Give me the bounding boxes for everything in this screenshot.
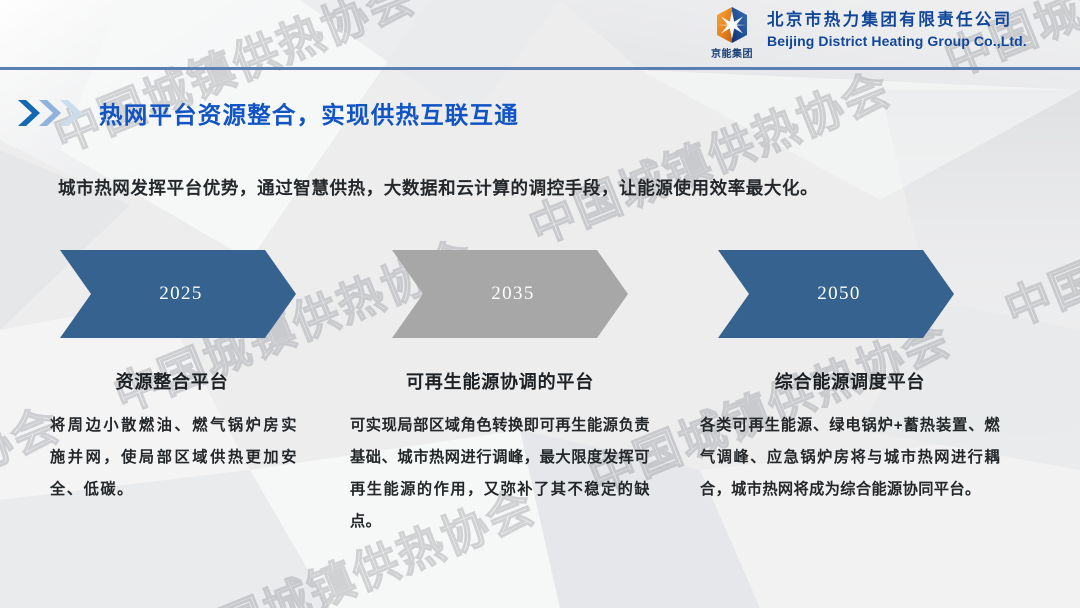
title-block: 热网平台资源整合，实现供热互联互通 (16, 96, 519, 130)
timeline-arrows: 2025 2035 2050 (0, 250, 1080, 340)
triple-chevron-right-icon (16, 98, 85, 128)
company-name-en: Beijing District Heating Group Co.,Ltd. (767, 32, 1027, 50)
page-title: 热网平台资源整合，实现供热互联互通 (99, 96, 519, 130)
company-name-cn: 北京市热力集团有限责任公司 (767, 10, 1027, 31)
watermark-text: 中国城镇供热协会 (522, 62, 898, 254)
chevron-right-icon (58, 98, 85, 128)
brand-header: 京能集团 北京市热力集团有限责任公司 Beijing District Heat… (706, 6, 1027, 60)
column-body-text: 可实现局部区域角色转换即可再生能源负责基础、城市热网进行调峰，最大限度发挥可再生… (350, 410, 650, 538)
timeline-arrow-2035: 2035 (392, 250, 628, 338)
column-heading: 综合能源调度平台 (700, 368, 1000, 394)
brand-sub-label: 京能集团 (711, 45, 753, 60)
timeline-arrow-2050: 2050 (718, 250, 954, 338)
column-body-text: 各类可再生能源、绿电锅炉+蓄热装置、燃气调峰、应急锅炉房将与城市热网进行耦合，城… (700, 410, 1000, 506)
timeline-year-label: 2050 (718, 250, 954, 338)
kyocera-hexagon-star-logo-icon (712, 6, 752, 44)
column-heading: 资源整合平台 (46, 368, 298, 394)
timeline-year-label: 2025 (60, 250, 296, 338)
brand-mark: 京能集团 (706, 6, 758, 60)
watermark-text: 中国城镇供热协会 (47, 0, 423, 162)
column-heading: 可再生能源协调的平台 (350, 368, 650, 394)
column-renewable-coordination: 可再生能源协调的平台 可实现局部区域角色转换即可再生能源负责基础、城市热网进行调… (350, 368, 650, 538)
intro-paragraph: 城市热网发挥平台优势，通过智慧供热，大数据和云计算的调控手段，让能源使用效率最大… (58, 175, 818, 200)
timeline-year-label: 2035 (392, 250, 628, 338)
column-resource-integration: 资源整合平台 将周边小散燃油、燃气锅炉房实施并网，使局部区域供热更加安全、低碳。 (50, 368, 298, 506)
header-divider (0, 67, 1080, 70)
timeline-arrow-2025: 2025 (60, 250, 296, 338)
column-body-text: 将周边小散燃油、燃气锅炉房实施并网，使局部区域供热更加安全、低碳。 (50, 410, 298, 506)
watermark-text: 中国城镇供热协会 (0, 0, 107, 70)
slide-canvas: 中国城镇供热协会中国城镇供热协会中国城镇供热协会中国城镇供热协会 中国城镇供热协… (0, 0, 1080, 608)
column-integrated-dispatch: 综合能源调度平台 各类可再生能源、绿电锅炉+蓄热装置、燃气调峰、应急锅炉房将与城… (700, 368, 1000, 506)
brand-text-block: 北京市热力集团有限责任公司 Beijing District Heating G… (767, 6, 1027, 50)
